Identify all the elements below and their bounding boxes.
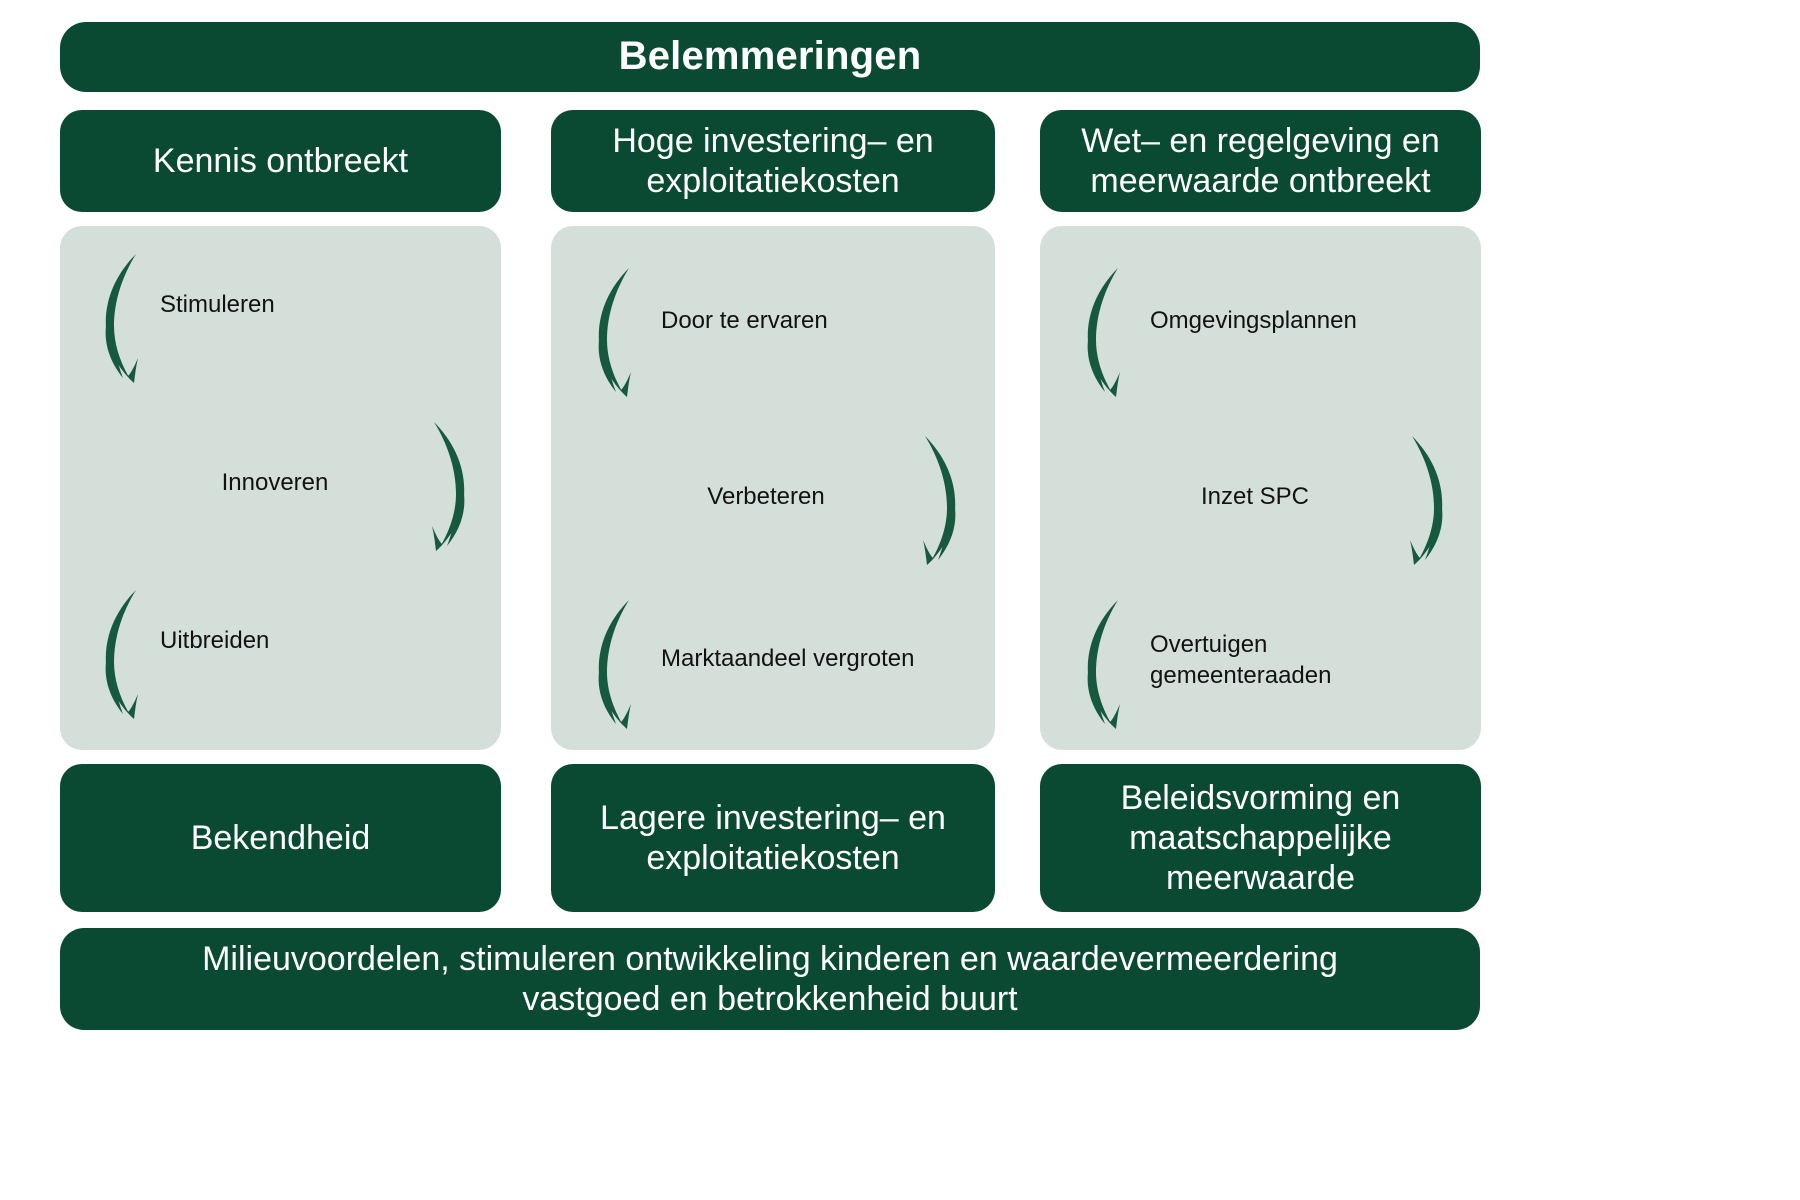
column-header-2-label: Hoge investering– en exploitatiekosten xyxy=(567,121,979,201)
column-footer-3-label: Beleidsvorming en maatschappelijke meerw… xyxy=(1054,778,1467,898)
column-header-1: Kennis ontbreekt xyxy=(60,110,501,212)
column-header-3: Wet– en regelgeving en meerwaarde ontbre… xyxy=(1040,110,1481,212)
bottom-banner: Milieuvoordelen, stimuleren ontwikkeling… xyxy=(60,928,1480,1030)
column-header-2: Hoge investering– en exploitatiekosten xyxy=(551,110,995,212)
cycle-step-label: Uitbreiden xyxy=(160,626,420,657)
bottom-banner-label: Milieuvoordelen, stimuleren ontwikkeling… xyxy=(202,939,1338,1019)
column-footer-1-label: Bekendheid xyxy=(191,818,371,858)
cycle-step-label: Innoveren xyxy=(150,468,400,499)
curved-arrow-down-right-icon xyxy=(410,416,480,556)
title-banner: Belemmeringen xyxy=(60,22,1480,92)
curved-arrow-down-left-icon xyxy=(583,594,653,734)
cycle-step-label: Inzet SPC xyxy=(1130,482,1380,513)
curved-arrow-down-left-icon xyxy=(90,584,160,724)
cycle-step-label: Stimuleren xyxy=(160,290,420,321)
curved-arrow-down-right-icon xyxy=(901,430,971,570)
cycle-step-label: Verbeteren xyxy=(641,482,891,513)
title-banner-label: Belemmeringen xyxy=(619,33,922,80)
curved-arrow-down-left-icon xyxy=(1072,594,1142,734)
curved-arrow-down-left-icon xyxy=(1072,262,1142,402)
column-panel-2: Door te ervaren Verbeteren Marktaandeel … xyxy=(551,226,995,750)
diagram-root: Belemmeringen Kennis ontbreekt Stimulere… xyxy=(0,0,1800,1200)
column-header-1-label: Kennis ontbreekt xyxy=(153,141,408,181)
column-panel-3: Omgevingsplannen Inzet SPC Overtuigen ge… xyxy=(1040,226,1481,750)
curved-arrow-down-left-icon xyxy=(90,248,160,388)
column-footer-1: Bekendheid xyxy=(60,764,501,912)
column-panel-1: Stimuleren Innoveren Uitbreiden xyxy=(60,226,501,750)
column-header-3-label: Wet– en regelgeving en meerwaarde ontbre… xyxy=(1056,121,1465,201)
cycle-step-label: Door te ervaren xyxy=(661,306,941,337)
cycle-step-label: Overtuigen gemeenteraaden xyxy=(1150,630,1450,691)
cycle-step-label: Omgevingsplannen xyxy=(1150,306,1450,337)
column-footer-2-label: Lagere investering– en exploitatiekosten xyxy=(565,798,981,878)
curved-arrow-down-right-icon xyxy=(1388,430,1458,570)
cycle-step-label: Marktaandeel vergroten xyxy=(661,644,981,675)
column-footer-2: Lagere investering– en exploitatiekosten xyxy=(551,764,995,912)
column-footer-3: Beleidsvorming en maatschappelijke meerw… xyxy=(1040,764,1481,912)
curved-arrow-down-left-icon xyxy=(583,262,653,402)
